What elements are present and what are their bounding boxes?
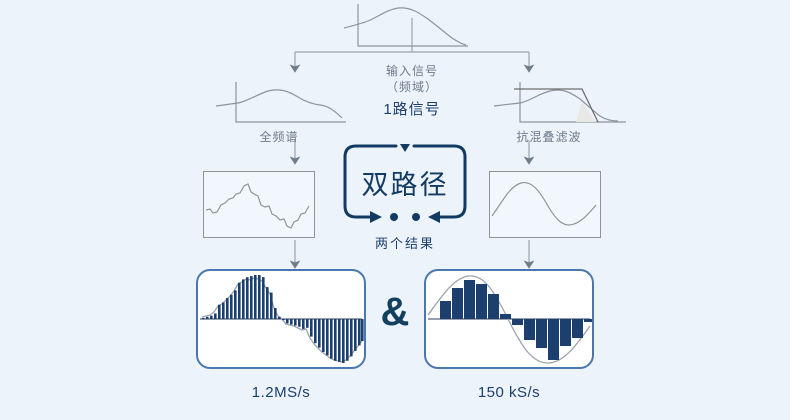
chart-smooth-sine	[489, 171, 601, 238]
center-badge-label: 双路径	[340, 163, 470, 202]
rate-label-right: 150 kS/s	[424, 384, 594, 401]
diagram-canvas: 输入信号 （频域） 1路信号 全频谱 抗混叠滤波	[0, 0, 790, 420]
center-badge: 双路径	[340, 143, 470, 233]
chart-input-spectrum	[336, 2, 476, 56]
ampersand-symbol: &	[372, 292, 418, 332]
input-signal-label: 1路信号	[337, 98, 487, 119]
input-caption-line2: （频域）	[337, 78, 487, 95]
chart-full-spectrum	[204, 78, 354, 134]
chart-noisy-waveform	[203, 171, 315, 238]
input-caption-line1: 输入信号	[337, 62, 487, 79]
rate-label-left: 1.2MS/s	[196, 384, 366, 401]
chart-high-rate-bars	[198, 271, 364, 367]
panel-low-rate	[424, 269, 594, 369]
branch-left-top-caption: 全频谱	[204, 128, 354, 145]
branch-right-top-caption: 抗混叠滤波	[464, 128, 634, 145]
panel-high-rate	[196, 269, 366, 369]
chart-low-rate-bars	[426, 271, 592, 367]
chart-antialias-spectrum	[476, 78, 632, 134]
result-label: 两个结果	[340, 233, 470, 252]
